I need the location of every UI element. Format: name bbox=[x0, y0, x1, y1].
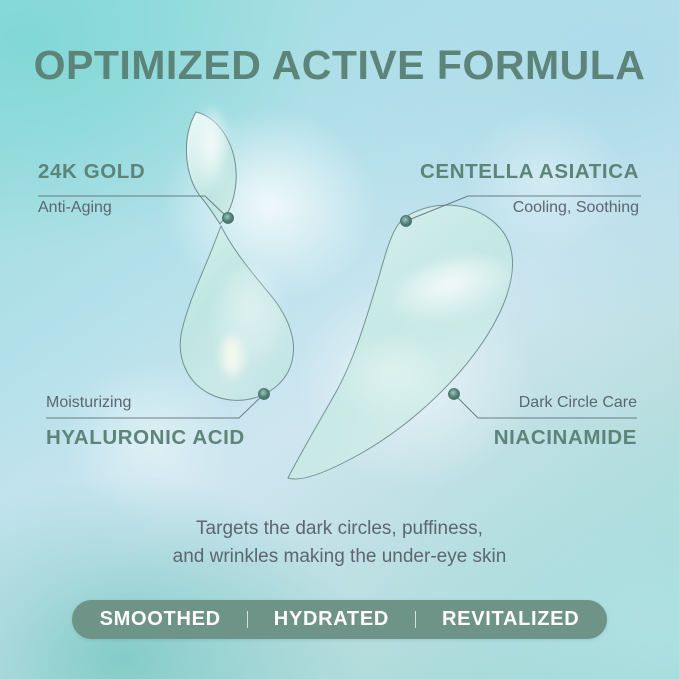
callout-niacinamide: Dark Circle Care NIACINAMIDE bbox=[494, 395, 637, 449]
body-copy-line-2: and wrinkles making the under-eye skin bbox=[0, 543, 679, 571]
body-copy-line-1: Targets the dark circles, puffiness, bbox=[0, 515, 679, 543]
callout-gold: 24K GOLD Anti-Aging bbox=[38, 162, 145, 216]
product-infographic: OPTIMIZED ACTIVE FORMULA 24K GOLD Anti-A… bbox=[0, 0, 679, 679]
benefits-pill: SMOOTHED HYDRATED REVITALIZED bbox=[72, 600, 607, 639]
callout-hyaluronic-benefit: Moisturizing bbox=[46, 395, 245, 411]
callout-niacinamide-name: NIACINAMIDE bbox=[494, 428, 637, 449]
callout-hyaluronic: Moisturizing HYALURONIC ACID bbox=[46, 395, 245, 449]
body-copy: Targets the dark circles, puffiness, and… bbox=[0, 515, 679, 571]
patch-upper-left bbox=[186, 108, 236, 224]
callout-centella-benefit: Cooling, Soothing bbox=[420, 200, 639, 216]
callout-niacinamide-benefit: Dark Circle Care bbox=[494, 395, 637, 411]
benefit-revitalized: REVITALIZED bbox=[416, 608, 605, 631]
patch-right bbox=[288, 205, 518, 479]
callout-gold-name: 24K GOLD bbox=[38, 162, 145, 183]
callout-hyaluronic-name: HYALURONIC ACID bbox=[46, 428, 245, 449]
callout-centella: CENTELLA ASIATICA Cooling, Soothing bbox=[420, 162, 639, 216]
benefit-smoothed: SMOOTHED bbox=[74, 608, 247, 631]
callout-centella-name: CENTELLA ASIATICA bbox=[420, 162, 639, 183]
callout-gold-benefit: Anti-Aging bbox=[38, 200, 145, 216]
benefit-hydrated: HYDRATED bbox=[248, 608, 415, 631]
page-title: OPTIMIZED ACTIVE FORMULA bbox=[0, 42, 679, 89]
eye-patch-illustration bbox=[0, 0, 679, 679]
patch-middle-left bbox=[180, 226, 293, 400]
